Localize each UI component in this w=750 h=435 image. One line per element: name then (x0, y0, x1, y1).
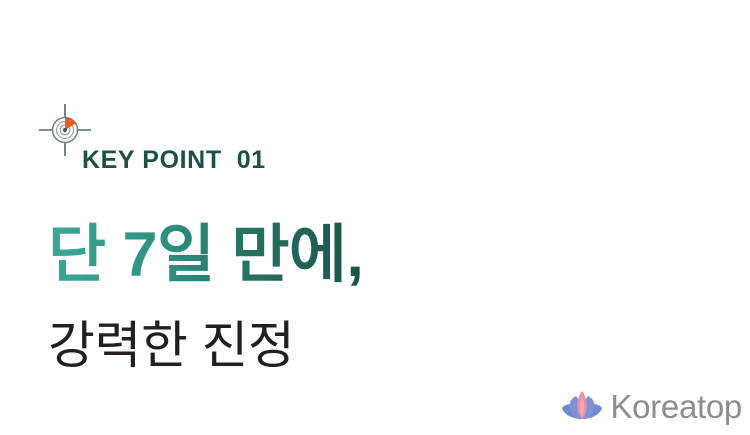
logo-wordmark: Koreatop (610, 390, 742, 423)
key-point-header: KEY POINT 01 (34, 100, 454, 190)
lotus-flower-icon (560, 388, 604, 424)
headline-primary: 단 7일 만에, (48, 222, 363, 288)
slide-canvas: KEY POINT 01 단 7일 만에, 강력한 진정 Koreatop (0, 0, 750, 435)
key-point-label: KEY POINT 01 (82, 148, 266, 173)
headline-secondary: 강력한 진정 (48, 318, 294, 374)
brand-logo: Koreatop (560, 383, 742, 429)
